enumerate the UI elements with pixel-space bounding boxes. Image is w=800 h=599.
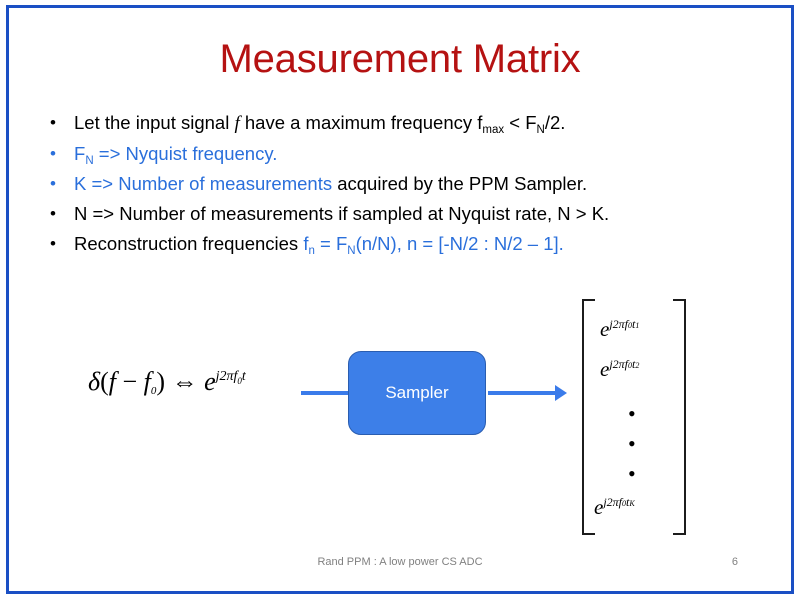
bullet-dot-icon: • [42, 230, 74, 257]
input-arrow-icon [301, 391, 349, 395]
slide-border-frame: Measurement Matrix • Let the input signa… [6, 5, 794, 594]
matrix-vertical-dot-2: • [628, 441, 636, 447]
slide-canvas: Measurement Matrix • Let the input signa… [0, 0, 800, 599]
bullet-dot-icon: • [42, 200, 74, 227]
page-title: Measurement Matrix [10, 37, 790, 82]
bullet-1-seg-7: /2. [545, 112, 566, 133]
list-item: • Let the input signal f have a maximum … [42, 109, 782, 137]
footer-title: Rand PPM : A low power CS ADC [10, 556, 790, 568]
f-variable: f [109, 367, 116, 396]
matrix-row-1-base: e [600, 317, 609, 341]
exponent-t: t [242, 369, 246, 384]
bullet-1-sub-n: N [537, 124, 545, 136]
matrix-vertical-dot-1: • [628, 411, 636, 417]
bullet-1-seg-5: < F [504, 112, 536, 133]
e-base: e [204, 367, 216, 396]
minus-sign: − [116, 367, 144, 396]
matrix-row-k-base: e [594, 495, 603, 519]
bullet-text: N => Number of measurements if sampled a… [74, 200, 609, 227]
bullet-2-sub-n: N [85, 155, 93, 167]
bullet-2-seg-3: => Nyquist frequency. [94, 143, 278, 164]
bullet-5-sub-n: n [308, 245, 314, 257]
list-item: • FN => Nyquist frequency. [42, 140, 782, 167]
delta-symbol: δ [88, 367, 100, 396]
bullet-5-sub-N: N [347, 245, 355, 257]
bullet-dot-icon: • [42, 109, 74, 136]
matrix-row-2-exp-index: 2 [635, 361, 639, 370]
bullet-1-seg-3: have a maximum frequency f [240, 112, 483, 133]
measurement-matrix: ej2πf0t1 ej2πf0t2 • • • ej2πf0tK [582, 299, 686, 535]
exponent-lead: j2πf [216, 369, 238, 384]
bullet-5-seg-1: Reconstruction frequencies [74, 233, 303, 254]
bullet-text: Let the input signal f have a maximum fr… [74, 109, 565, 137]
signal-flow-diagram: δ(f − f0) ⇔ ej2πf0t Sampler ej2πf0t1 ej2… [10, 281, 790, 546]
list-item: • Reconstruction frequencies fn = FN(n/N… [42, 230, 782, 257]
output-arrow-icon [488, 391, 556, 395]
matrix-vertical-dot-3: • [628, 471, 636, 477]
bullet-5-eq: = F [315, 233, 347, 254]
bullet-text: Reconstruction frequencies fn = FN(n/N),… [74, 230, 564, 257]
matrix-row-1: ej2πf0t1 [600, 317, 639, 342]
matrix-row-2-exp-lead: j2πf [609, 357, 628, 371]
equivalence-symbol: ⇔ [172, 367, 198, 396]
delta-equation: δ(f − f0) ⇔ ej2πf0t [88, 367, 246, 397]
f0-subscript: 0 [151, 385, 157, 397]
sampler-block-label: Sampler [385, 383, 448, 403]
f0-base: f [144, 367, 151, 396]
page-number: 6 [732, 556, 738, 568]
bullet-list: • Let the input signal f have a maximum … [42, 109, 782, 260]
matrix-bracket-right-icon [673, 299, 686, 535]
list-item: • N => Number of measurements if sampled… [42, 200, 782, 227]
matrix-row-1-exp-index: 1 [635, 321, 639, 330]
bullet-4-seg-1: N => Number of measurements if sampled a… [74, 203, 609, 224]
bullet-dot-icon: • [42, 170, 74, 197]
bullet-text: K => Number of measurements acquired by … [74, 170, 587, 197]
matrix-row-1-exp-lead: j2πf [609, 317, 628, 331]
bullet-3-seg-blue: K => Number of measurements [74, 173, 332, 194]
bullet-dot-icon: • [42, 140, 74, 167]
list-item: • K => Number of measurements acquired b… [42, 170, 782, 197]
matrix-row-k-exp-index: K [629, 499, 634, 508]
sampler-block[interactable]: Sampler [348, 351, 486, 435]
matrix-row-k: ej2πf0tK [594, 495, 635, 520]
slide-content-area: Measurement Matrix • Let the input signa… [9, 8, 791, 591]
matrix-row-2: ej2πf0t2 [600, 357, 639, 382]
bullet-3-seg-black: acquired by the PPM Sampler. [332, 173, 587, 194]
matrix-row-k-exp-lead: j2πf [603, 495, 622, 509]
bullet-2-seg-1: F [74, 143, 85, 164]
bullet-1-sub-max: max [482, 124, 504, 136]
matrix-row-2-base: e [600, 357, 609, 381]
bullet-5-range: (n/N), n = [-N/2 : N/2 – 1]. [356, 233, 564, 254]
bullet-1-seg-1: Let the input signal [74, 112, 234, 133]
paren-open: ( [100, 367, 109, 396]
paren-close: ) [156, 367, 165, 396]
bullet-text: FN => Nyquist frequency. [74, 140, 277, 167]
